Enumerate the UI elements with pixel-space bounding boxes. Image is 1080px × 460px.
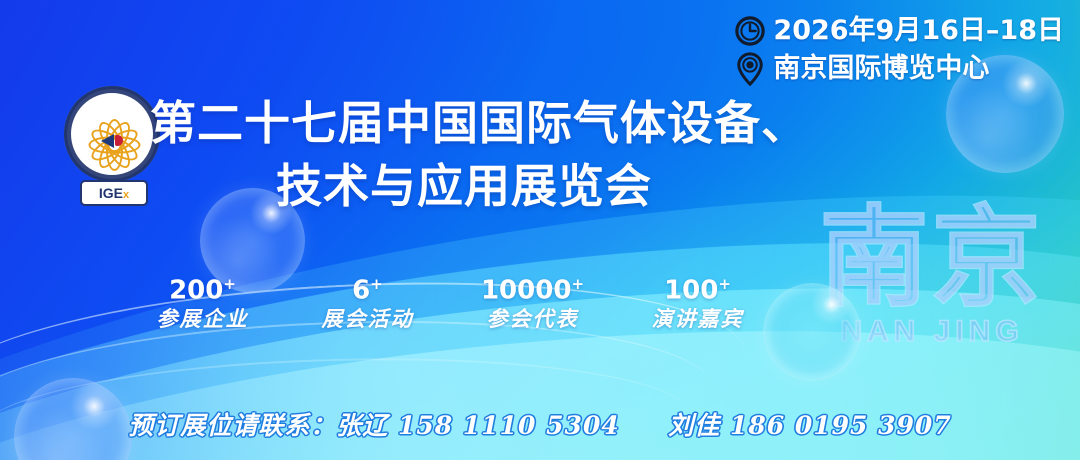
event-date-row: 2026年9月16日–18日 (735, 16, 1064, 46)
stat-number: 6+ (285, 276, 450, 305)
map-pin-icon (735, 52, 765, 86)
event-date-text: 2026年9月16日–18日 (773, 16, 1064, 46)
stat-number: 100+ (615, 276, 780, 305)
stat-label: 参会代表 (450, 306, 615, 331)
event-title-line-2: 技术与应用展览会 (150, 155, 850, 218)
logo-triangle (101, 134, 114, 148)
clock-icon (735, 16, 765, 46)
stat-number-value: 100 (664, 276, 718, 306)
stat-item: 200+参展企业 (120, 276, 285, 331)
contact-bar: 预订展位请联系：张辽 158 1110 5304 刘佳 186 0195 390… (0, 406, 1080, 442)
stats-row: 200+参展企业6+展会活动10000+参会代表100+演讲嘉宾 (120, 276, 780, 331)
event-title: 第二十七届中国国际气体设备、 技术与应用展览会 (150, 92, 850, 219)
stat-item: 10000+参会代表 (450, 276, 615, 331)
stat-number-value: 10000 (481, 276, 571, 306)
logo-nameplate: IGEx (80, 180, 148, 206)
logo-nameplate-text: IGEx (99, 186, 129, 201)
stat-number-suffix: + (718, 275, 731, 293)
stat-label: 参展企业 (120, 306, 285, 331)
logo-core-icon (101, 132, 123, 150)
stat-label: 演讲嘉宾 (615, 306, 780, 331)
event-meta: 2026年9月16日–18日 南京国际博览中心 (735, 16, 1064, 92)
logo-red-mark (115, 135, 123, 146)
stat-number-value: 200 (169, 276, 223, 306)
exhibition-banner: 南京 NAN JING IGEx 2026年9月16日–18日 (0, 0, 1080, 460)
stat-item: 100+演讲嘉宾 (615, 276, 780, 331)
event-title-line-1: 第二十七届中国国际气体设备、 (150, 92, 850, 155)
stat-label: 展会活动 (285, 306, 450, 331)
stat-number: 200+ (120, 276, 285, 305)
stat-number-value: 6 (352, 276, 370, 306)
event-venue-row: 南京国际博览中心 (735, 52, 1064, 86)
stat-item: 6+展会活动 (285, 276, 450, 331)
stat-number-suffix: + (223, 275, 236, 293)
contact-text: 预订展位请联系：张辽 158 1110 5304 刘佳 186 0195 390… (128, 406, 951, 442)
stat-number-suffix: + (571, 275, 584, 293)
stat-number-suffix: + (370, 275, 383, 293)
event-venue-text: 南京国际博览中心 (773, 54, 989, 84)
stat-number: 10000+ (450, 276, 615, 305)
